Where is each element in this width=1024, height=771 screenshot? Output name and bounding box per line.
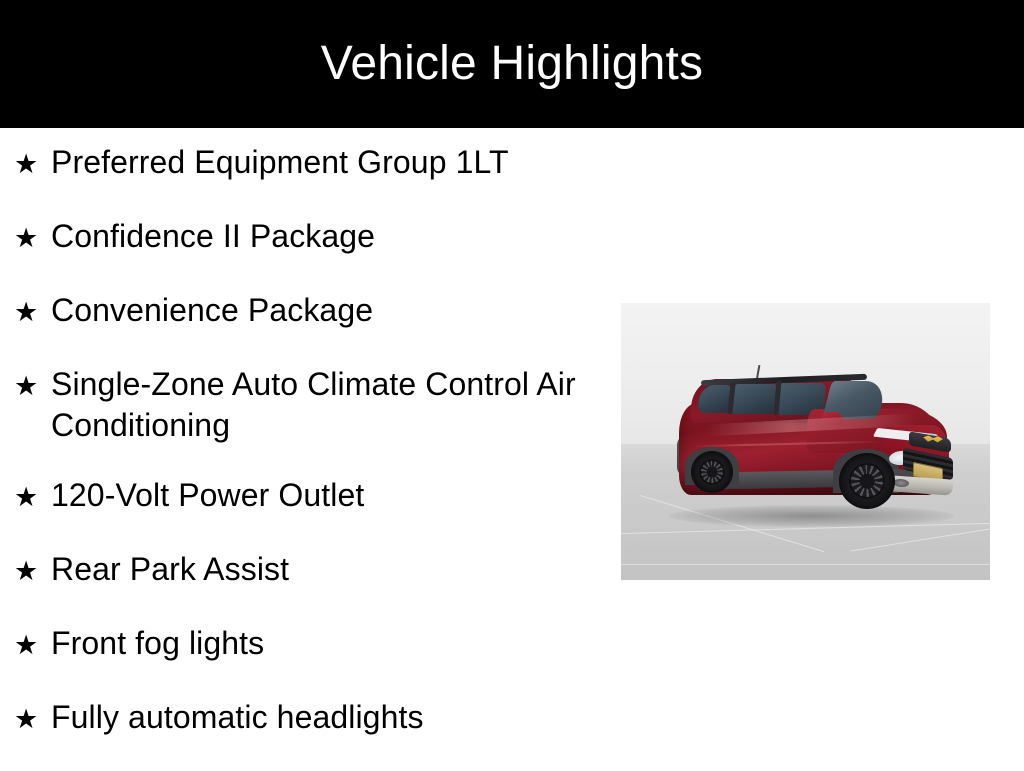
list-item-label: Fully automatic headlights bbox=[51, 697, 608, 738]
star-bullet-icon: ★ bbox=[12, 216, 51, 261]
list-item: ★ Rear Park Assist bbox=[12, 549, 608, 594]
star-bullet-icon: ★ bbox=[12, 142, 51, 187]
list-item-label: Rear Park Assist bbox=[51, 549, 608, 590]
star-bullet-icon: ★ bbox=[12, 290, 51, 335]
page-title: Vehicle Highlights bbox=[321, 40, 704, 88]
star-bullet-icon: ★ bbox=[12, 364, 51, 409]
list-item: ★ Single-Zone Auto Climate Control Air C… bbox=[12, 364, 608, 446]
front-wheel-hub bbox=[860, 474, 875, 489]
star-bullet-icon: ★ bbox=[12, 697, 51, 742]
star-bullet-icon: ★ bbox=[12, 549, 51, 594]
suv-illustration bbox=[661, 365, 961, 535]
list-item: ★ Confidence II Package bbox=[12, 216, 608, 261]
list-item: ★ Convenience Package bbox=[12, 290, 608, 335]
header-banner: Vehicle Highlights bbox=[0, 0, 1024, 128]
list-item-label: Confidence II Package bbox=[51, 216, 608, 257]
list-item-label: 120-Volt Power Outlet bbox=[51, 475, 608, 516]
list-item-label: Front fog lights bbox=[51, 623, 608, 664]
star-bullet-icon: ★ bbox=[12, 623, 51, 668]
vehicle-shadow bbox=[669, 505, 954, 527]
list-item-label: Convenience Package bbox=[51, 290, 608, 331]
floor-seam bbox=[621, 564, 990, 565]
list-item-label: Preferred Equipment Group 1LT bbox=[51, 142, 608, 183]
list-item: ★ Preferred Equipment Group 1LT bbox=[12, 142, 608, 187]
rear-wheel-hub bbox=[707, 467, 718, 478]
rear-wheel bbox=[691, 451, 733, 493]
list-item: ★ Front fog lights bbox=[12, 623, 608, 668]
vehicle-photo bbox=[621, 303, 990, 580]
list-item: ★ 120-Volt Power Outlet bbox=[12, 475, 608, 520]
list-item: ★ Fully automatic headlights bbox=[12, 697, 608, 742]
vehicle-highlights-list: ★ Preferred Equipment Group 1LT ★ Confid… bbox=[12, 142, 608, 771]
list-item-label: Single-Zone Auto Climate Control Air Con… bbox=[51, 364, 608, 446]
content-area: ★ Preferred Equipment Group 1LT ★ Confid… bbox=[0, 128, 1024, 768]
rear-door-glass bbox=[732, 384, 777, 414]
star-bullet-icon: ★ bbox=[12, 475, 51, 520]
front-wheel bbox=[839, 453, 895, 509]
